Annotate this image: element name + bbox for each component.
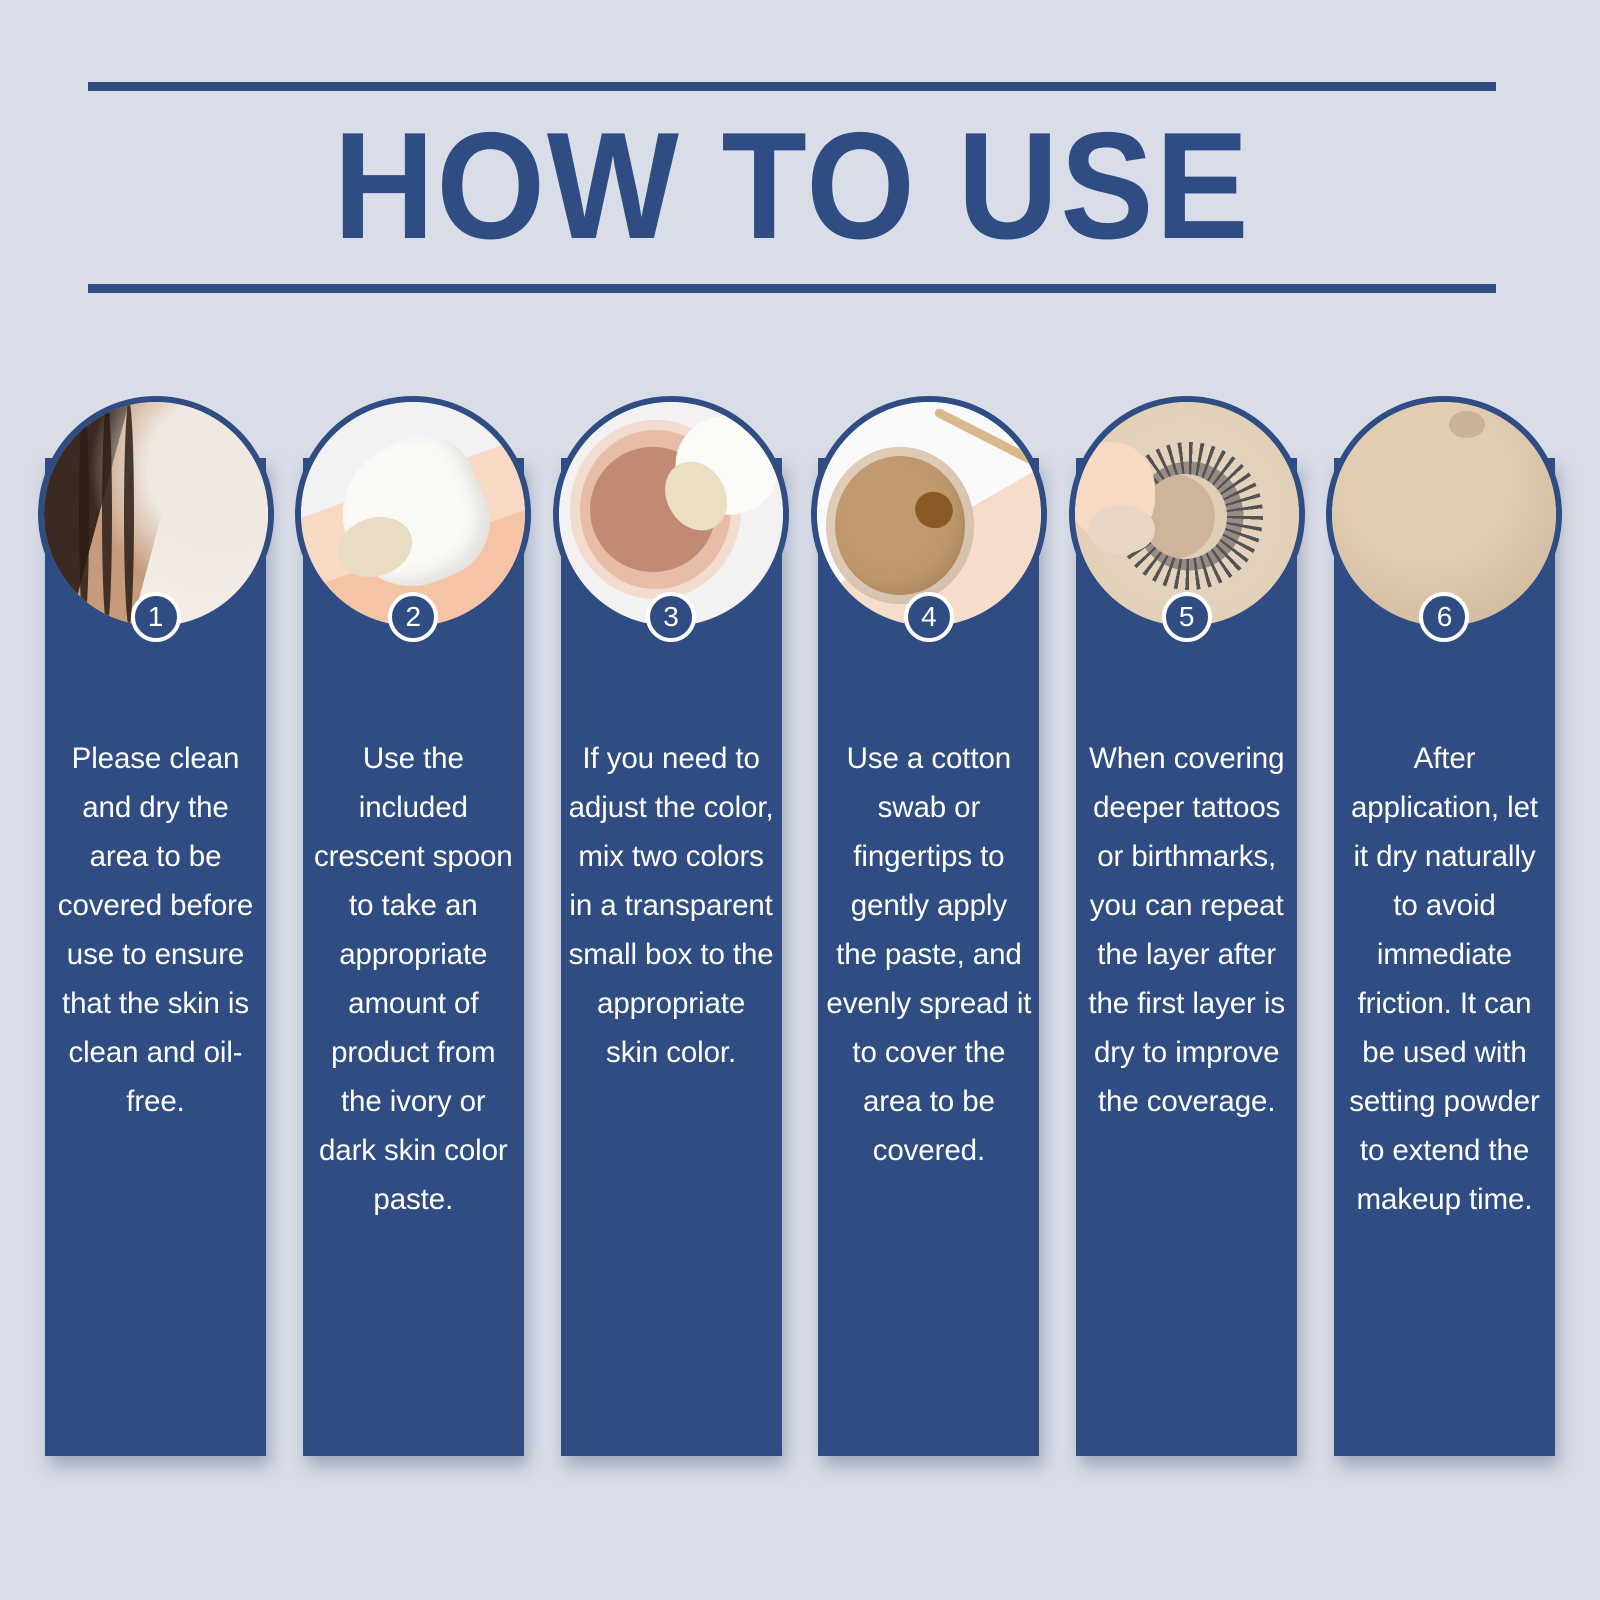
- step-description: After application, let it dry naturally …: [1342, 734, 1547, 1224]
- title-rule-top: [88, 82, 1496, 91]
- step-card: 3 If you need to adjust the color, mix t…: [561, 396, 782, 1456]
- step-card: 2 Use the included crescent spoon to tak…: [303, 396, 524, 1456]
- page-title: HOW TO USE: [144, 91, 1439, 284]
- step-card: 4 Use a cotton swab or fingertips to gen…: [818, 396, 1039, 1456]
- step-description: If you need to adjust the color, mix two…: [569, 734, 774, 1077]
- step-description: Use the included crescent spoon to take …: [311, 734, 516, 1224]
- step-number-badge: 3: [646, 592, 696, 642]
- step-number-badge: 5: [1162, 592, 1212, 642]
- step-number-badge: 4: [904, 592, 954, 642]
- steps-row: 1 Please clean and dry the area to be co…: [45, 396, 1555, 1456]
- step-card: 1 Please clean and dry the area to be co…: [45, 396, 266, 1456]
- step-description: Please clean and dry the area to be cove…: [53, 734, 258, 1126]
- step-description: When covering deeper tattoos or birthmar…: [1084, 734, 1289, 1126]
- step-number-badge: 1: [131, 592, 181, 642]
- step-description: Use a cotton swab or fingertips to gentl…: [826, 734, 1031, 1175]
- step-card: 5 When covering deeper tattoos or birthm…: [1076, 396, 1297, 1456]
- step-number-badge: 6: [1419, 592, 1469, 642]
- step-card: 6 After application, let it dry naturall…: [1334, 396, 1555, 1456]
- page-header: HOW TO USE: [88, 82, 1496, 293]
- title-rule-bottom: [88, 284, 1496, 293]
- step-number-badge: 2: [388, 592, 438, 642]
